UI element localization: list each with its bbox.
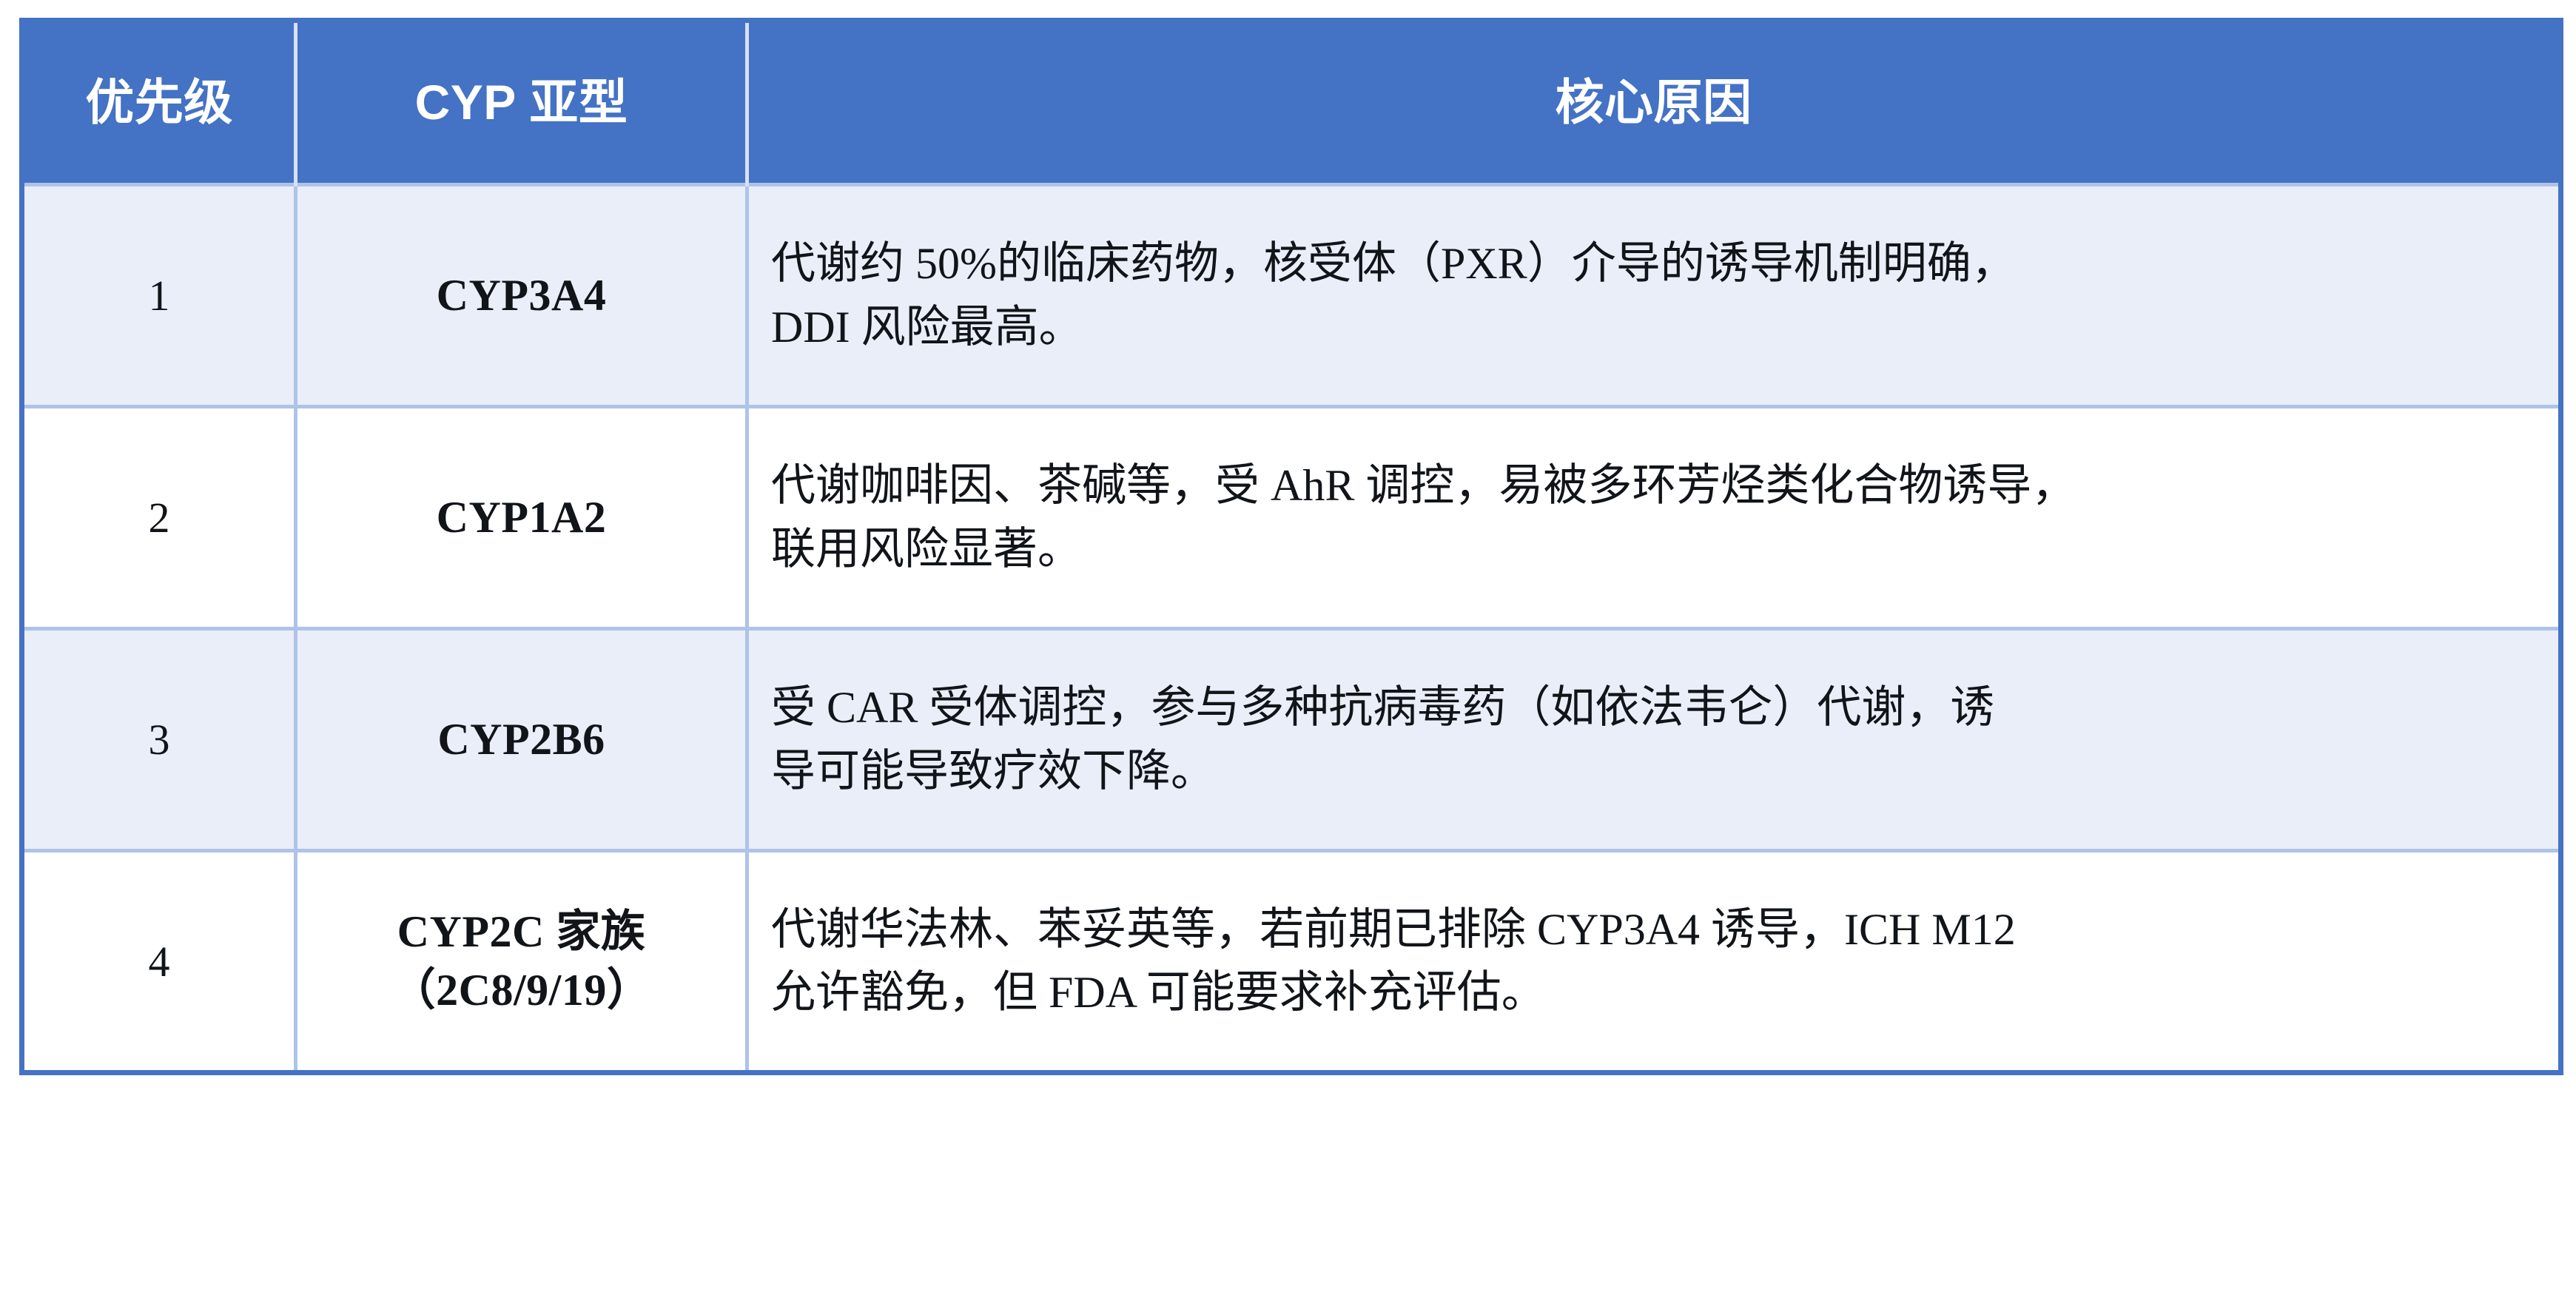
reason-line: 导可能导致疗效下降。: [771, 740, 2533, 803]
cell-cyp-subtype: CYP3A4: [296, 185, 747, 407]
cyp-subtype-name: CYP1A2: [437, 493, 607, 542]
cell-priority: 1: [22, 185, 296, 407]
cyp-subtype-name: CYP2B6: [437, 715, 605, 764]
table-body: 1 CYP3A4 代谢约 50%的临床药物，核受体（PXR）介导的诱导机制明确，…: [22, 185, 2561, 1073]
reason-line: 允许豁免，但 FDA 可能要求补充评估。: [771, 961, 2533, 1024]
cell-core-reason: 代谢咖啡因、茶碱等，受 AhR 调控，易被多环芳烃类化合物诱导， 联用风险显著。: [747, 407, 2561, 629]
reason-line: 代谢约 50%的临床药物，核受体（PXR）介导的诱导机制明确，: [771, 232, 2533, 295]
cell-cyp-subtype: CYP1A2: [296, 407, 747, 629]
cyp-subtype-name: CYP3A4: [437, 271, 607, 320]
header-row: 优先级 CYP 亚型 核心原因: [22, 21, 2561, 185]
table-row: 3 CYP2B6 受 CAR 受体调控，参与多种抗病毒药（如依法韦仑）代谢，诱 …: [22, 629, 2561, 851]
cell-core-reason: 代谢华法林、苯妥英等，若前期已排除 CYP3A4 诱导，ICH M12 允许豁免…: [747, 851, 2561, 1073]
cyp-priority-table: 优先级 CYP 亚型 核心原因 1 CYP3A4 代谢约 50%的临床药物，核受…: [19, 18, 2563, 1075]
cyp-subtype-detail: （2C8/9/19）: [297, 961, 745, 1020]
cell-priority: 4: [22, 851, 296, 1073]
reason-line: 代谢咖啡因、茶碱等，受 AhR 调控，易被多环芳烃类化合物诱导，: [771, 454, 2533, 517]
cell-priority: 2: [22, 407, 296, 629]
cyp-subtype-name: CYP2C 家族: [397, 907, 646, 956]
table-row: 4 CYP2C 家族 （2C8/9/19） 代谢华法林、苯妥英等，若前期已排除 …: [22, 851, 2561, 1073]
cell-priority: 3: [22, 629, 296, 851]
cell-core-reason: 代谢约 50%的临床药物，核受体（PXR）介导的诱导机制明确， DDI 风险最高…: [747, 185, 2561, 407]
table-row: 2 CYP1A2 代谢咖啡因、茶碱等，受 AhR 调控，易被多环芳烃类化合物诱导…: [22, 407, 2561, 629]
table-row: 1 CYP3A4 代谢约 50%的临床药物，核受体（PXR）介导的诱导机制明确，…: [22, 185, 2561, 407]
reason-line: 受 CAR 受体调控，参与多种抗病毒药（如依法韦仑）代谢，诱: [771, 676, 2533, 739]
reason-line: 联用风险显著。: [771, 518, 2533, 581]
column-header-priority: 优先级: [22, 21, 296, 185]
cell-cyp-subtype: CYP2B6: [296, 629, 747, 851]
column-header-core-reason: 核心原因: [747, 21, 2561, 185]
column-header-cyp-subtype: CYP 亚型: [296, 21, 747, 185]
cell-core-reason: 受 CAR 受体调控，参与多种抗病毒药（如依法韦仑）代谢，诱 导可能导致疗效下降…: [747, 629, 2561, 851]
page-container: 优先级 CYP 亚型 核心原因 1 CYP3A4 代谢约 50%的临床药物，核受…: [0, 0, 2576, 1295]
reason-line: 代谢华法林、苯妥英等，若前期已排除 CYP3A4 诱导，ICH M12: [771, 898, 2533, 961]
cell-cyp-subtype: CYP2C 家族 （2C8/9/19）: [296, 851, 747, 1073]
reason-line: DDI 风险最高。: [771, 296, 2533, 359]
table-header: 优先级 CYP 亚型 核心原因: [22, 21, 2561, 185]
